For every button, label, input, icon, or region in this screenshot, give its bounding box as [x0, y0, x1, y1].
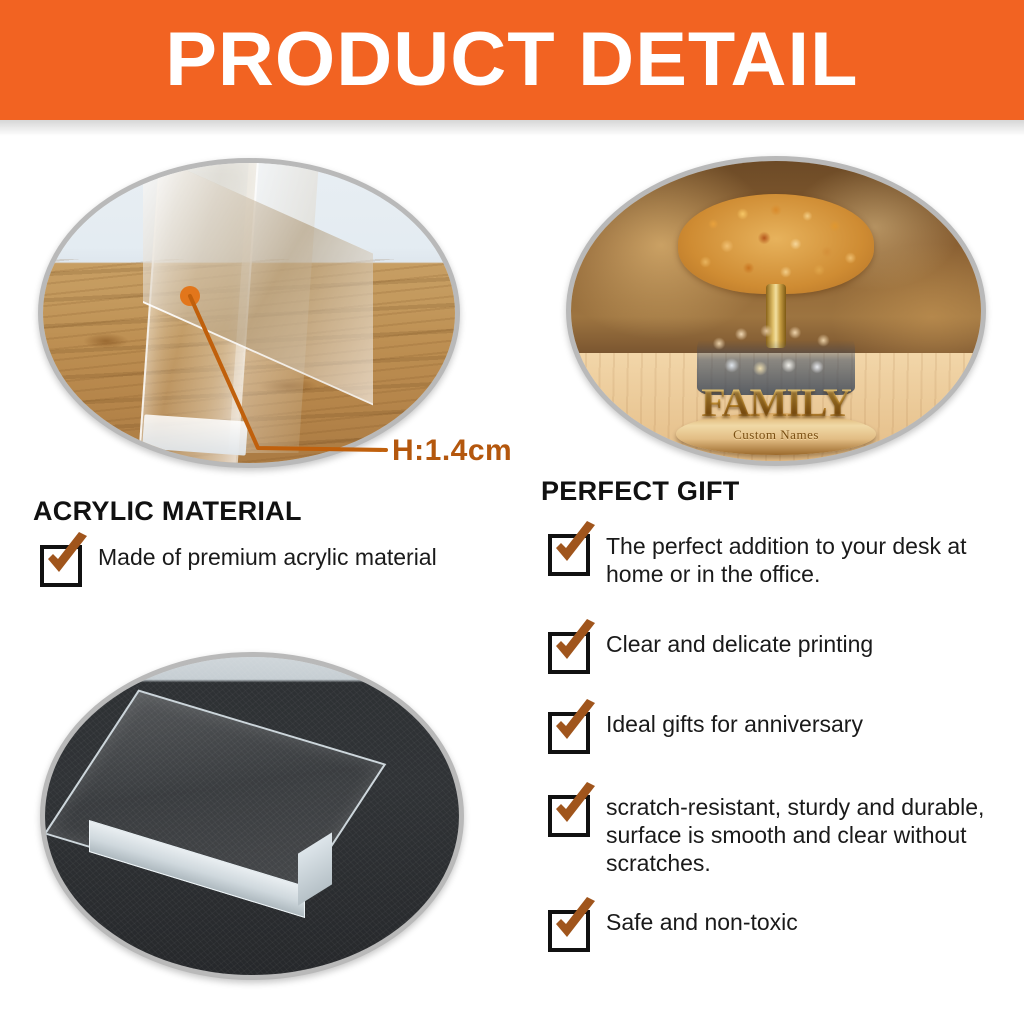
heart-tree-canopy: [678, 194, 874, 294]
list-item-label: Clear and delicate printing: [606, 630, 873, 658]
check-mark-icon: [40, 545, 82, 587]
photo-acrylic-edge-detail: [38, 158, 460, 468]
banner-shadow: [0, 120, 1024, 136]
list-item-label: Ideal gifts for anniversary: [606, 710, 863, 738]
height-measurement-label: H:1.4cm: [392, 434, 512, 468]
list-item: The perfect addition to your desk at hom…: [548, 532, 998, 588]
check-mark-icon: [548, 632, 590, 674]
check-mark-icon: [548, 712, 590, 754]
family-word-letters: FAMILY: [701, 383, 851, 423]
list-item: Made of premium acrylic material: [40, 543, 510, 587]
header-banner: PRODUCT DETAIL: [0, 0, 1024, 120]
list-item-label: scratch-resistant, sturdy and durable, s…: [606, 793, 998, 877]
photo-family-tree-product: FAMILY Custom Names: [566, 156, 986, 466]
check-mark-icon: [548, 534, 590, 576]
section-title-acrylic-material: ACRYLIC MATERIAL: [33, 496, 302, 527]
check-mark-icon: [548, 910, 590, 952]
custom-names-text: Custom Names: [733, 427, 819, 443]
section-title-perfect-gift: PERFECT GIFT: [541, 476, 740, 507]
check-mark-icon: [548, 795, 590, 837]
acrylic-block-base: [142, 414, 248, 455]
photo-acrylic-slab: [40, 652, 464, 980]
list-item-label: The perfect addition to your desk at hom…: [606, 532, 998, 588]
page-title: PRODUCT DETAIL: [165, 22, 858, 98]
list-item: Safe and non-toxic: [548, 908, 998, 952]
wood-knot: [83, 333, 129, 349]
measurement-dot-icon: [180, 286, 200, 306]
list-item: scratch-resistant, sturdy and durable, s…: [548, 793, 998, 877]
list-item: Clear and delicate printing: [548, 630, 998, 674]
list-item-label: Safe and non-toxic: [606, 908, 798, 936]
list-item-label: Made of premium acrylic material: [98, 543, 437, 571]
list-item: Ideal gifts for anniversary: [548, 710, 998, 754]
